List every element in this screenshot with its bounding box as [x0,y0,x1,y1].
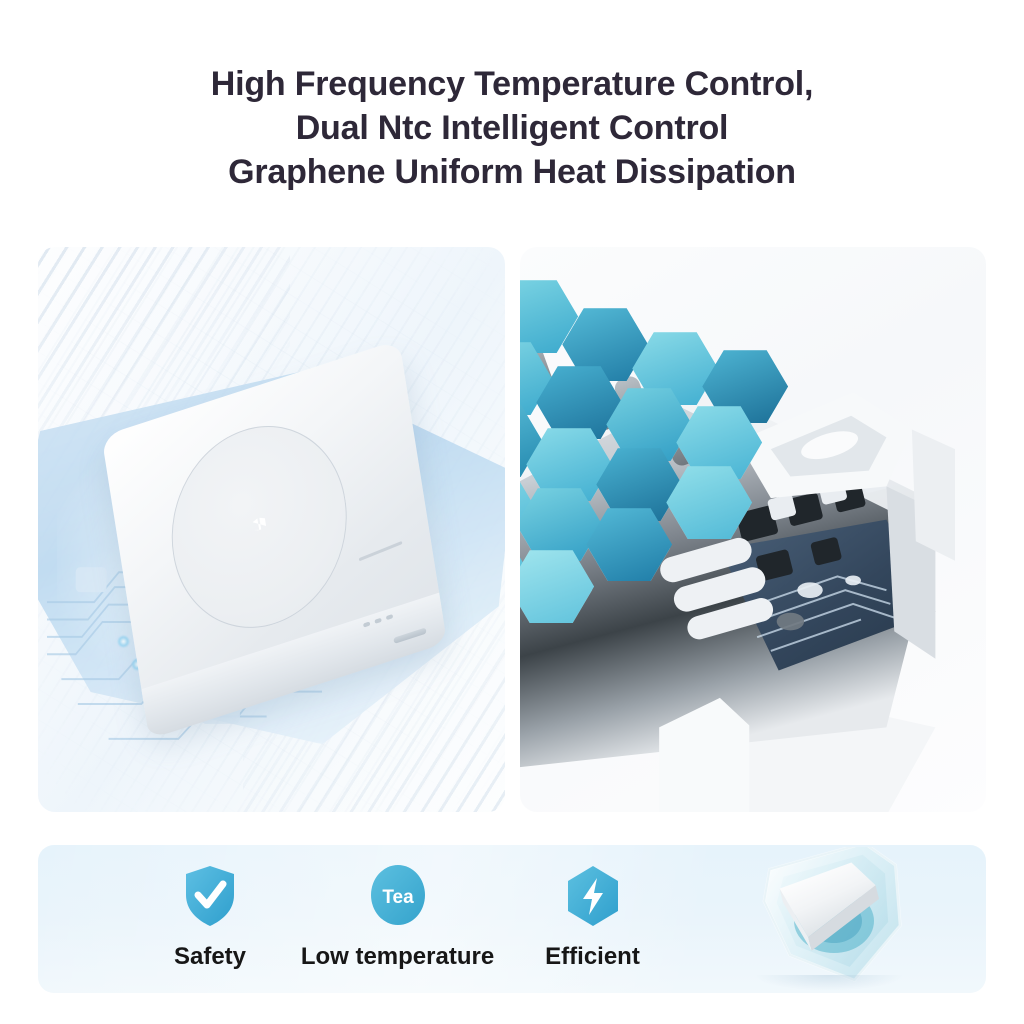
graphene-hexagon-array [520,287,945,728]
product-marketing-page: High Frequency Temperature Control, Dual… [0,0,1024,1024]
feature-list: Safety Tea Low [130,863,730,981]
tea-icon-text: Tea [382,887,414,908]
page-title-line-2: Dual Ntc Intelligent Control [0,106,1024,150]
tea-circle-icon: Tea [369,863,427,929]
feature-label: Efficient [545,943,640,971]
glass-shield-with-power-bank [730,847,940,993]
lightning-hexagon-icon [566,863,620,929]
glass-shield-reflection [754,975,904,991]
image-panel-row [38,247,986,812]
feature-item-low-temperature[interactable]: Tea Low temperature [290,863,505,971]
feature-item-efficient[interactable]: Efficient [505,863,680,971]
page-title-line-1: High Frequency Temperature Control, [0,62,1024,106]
feature-label: Safety [174,943,246,971]
page-title: High Frequency Temperature Control, Dual… [0,62,1024,194]
shield-check-icon [184,863,236,929]
page-title-line-3: Graphene Uniform Heat Dissipation [0,150,1024,194]
power-bank-hero-photo [38,247,505,812]
feature-highlight-bar: Safety Tea Low [38,845,986,993]
feature-label: Low temperature [301,943,494,971]
feature-item-safety[interactable]: Safety [130,863,290,971]
hexagon-tile [520,549,595,625]
graphene-heat-dissipation-cutaway [520,247,987,812]
